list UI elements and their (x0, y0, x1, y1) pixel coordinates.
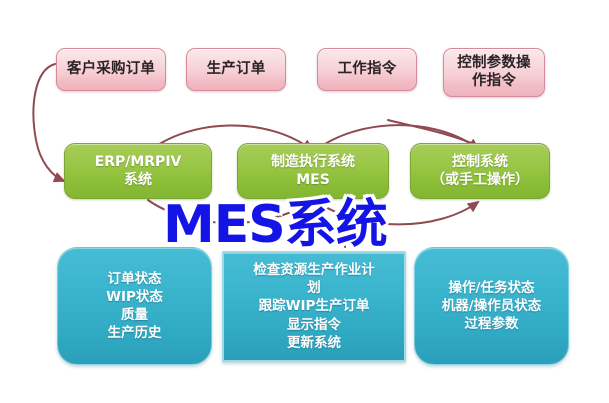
feedback-box-label: 操作/任务状态 机器/操作员状态 过程参数 (415, 279, 568, 333)
input-box-customer-purchase-order[interactable]: 客户采购订单 (56, 48, 166, 91)
system-box-erp-mrpiv[interactable]: ERP/MRPIV 系统 (64, 143, 212, 199)
system-box-label: ERP/MRPIV 系统 (65, 153, 211, 189)
diagram-title: MES系统 (163, 199, 387, 251)
input-box-label: 工作指令 (318, 61, 416, 78)
feedback-box-resource-schedule[interactable]: 检查资源生产作业计 划 跟踪WIP生产订单 显示指令 更新系统 (222, 251, 406, 362)
input-box-label: 生产订单 (187, 61, 285, 78)
input-box-label: 控制参数操 作指令 (444, 55, 544, 89)
system-box-label: 控制系统 （或手工操作） (411, 153, 549, 189)
input-box-production-order[interactable]: 生产订单 (186, 48, 286, 91)
system-box-control-system[interactable]: 控制系统 （或手工操作） (410, 143, 550, 199)
input-box-control-parameter-instruction[interactable]: 控制参数操 作指令 (443, 48, 545, 97)
system-box-mes[interactable]: 制造执行系统 MES (237, 143, 389, 199)
feedback-box-label: 检查资源生产作业计 划 跟踪WIP生产订单 显示指令 更新系统 (224, 261, 404, 351)
feedback-box-order-status[interactable]: 订单状态 WIP状态 质量 生产历史 (57, 247, 212, 365)
system-box-label: 制造执行系统 MES (238, 153, 388, 189)
feedback-box-label: 订单状态 WIP状态 质量 生产历史 (58, 270, 211, 342)
diagram-title-text: MES系统 (163, 195, 387, 255)
mes-diagram-canvas: 客户采购订单 生产订单 工作指令 控制参数操 作指令 ERP/MRPIV 系统 … (0, 0, 609, 403)
input-box-work-instruction[interactable]: 工作指令 (317, 48, 417, 91)
input-box-label: 客户采购订单 (57, 61, 165, 78)
feedback-box-operation-status[interactable]: 操作/任务状态 机器/操作员状态 过程参数 (414, 247, 569, 365)
